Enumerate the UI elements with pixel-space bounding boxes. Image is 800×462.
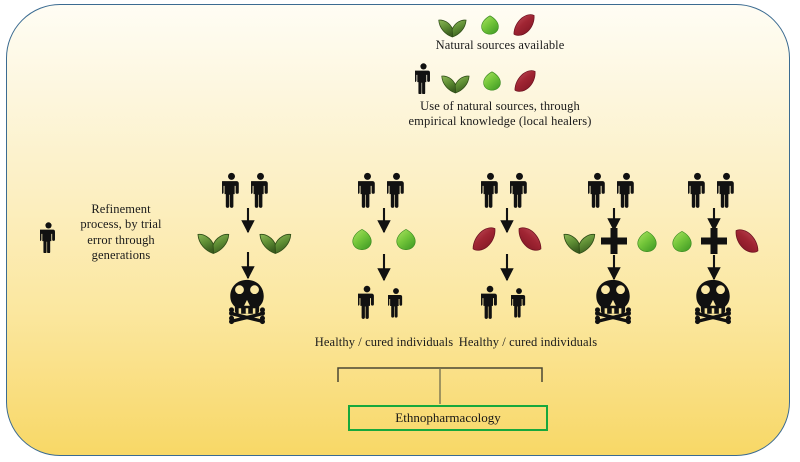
bright-leaf-icon	[636, 228, 658, 255]
people-icon	[222, 172, 274, 208]
dark-leaf-pair-icon	[440, 67, 472, 95]
skull-icon	[692, 279, 734, 325]
ethnopharmacology-label: Ethnopharmacology	[395, 410, 500, 426]
red-leaf-icon	[470, 226, 498, 252]
people-icon	[358, 285, 410, 319]
red-leaf-icon	[511, 13, 537, 37]
bright-leaf-icon	[480, 13, 500, 37]
red-leaf-icon	[512, 69, 538, 93]
people-icon	[688, 172, 740, 208]
people-icon	[588, 172, 640, 208]
person-icon	[40, 222, 57, 253]
arrow-down	[497, 208, 517, 240]
people-icon	[481, 172, 533, 208]
diagram-canvas: Natural sources available Use of natural…	[0, 0, 800, 462]
dark-leaf-pair-icon	[258, 224, 294, 256]
red-leaf-icon	[733, 228, 761, 254]
bright-leaf-icon	[351, 226, 373, 253]
skull-icon	[226, 279, 268, 325]
plus-icon	[701, 228, 727, 254]
healthy-cured-label: Healthy / cured individuals	[304, 335, 464, 350]
refinement-process-label: Refinement process, by trial error throu…	[68, 202, 174, 263]
dark-leaf-pair-icon	[562, 224, 598, 256]
bright-leaf-icon	[671, 228, 693, 255]
people-icon	[358, 172, 410, 208]
dark-leaf-pair-icon	[437, 11, 469, 39]
bright-leaf-icon	[395, 226, 417, 253]
arrow-down	[238, 208, 258, 240]
red-leaf-icon	[516, 226, 544, 252]
arrow-down	[374, 254, 394, 288]
bright-leaf-icon	[482, 69, 502, 93]
arrow-down	[374, 208, 394, 240]
healthy-cured-label: Healthy / cured individuals	[448, 335, 608, 350]
plus-icon	[601, 228, 627, 254]
person-icon	[415, 63, 432, 94]
conclusion-bracket	[330, 364, 560, 410]
ethnopharmacology-box: Ethnopharmacology	[348, 405, 548, 431]
use-of-sources-label: Use of natural sources, through empirica…	[370, 99, 630, 130]
arrow-down	[497, 254, 517, 288]
dark-leaf-pair-icon	[196, 224, 232, 256]
people-icon	[481, 285, 533, 319]
skull-icon	[592, 279, 634, 325]
natural-sources-label: Natural sources available	[380, 38, 620, 53]
